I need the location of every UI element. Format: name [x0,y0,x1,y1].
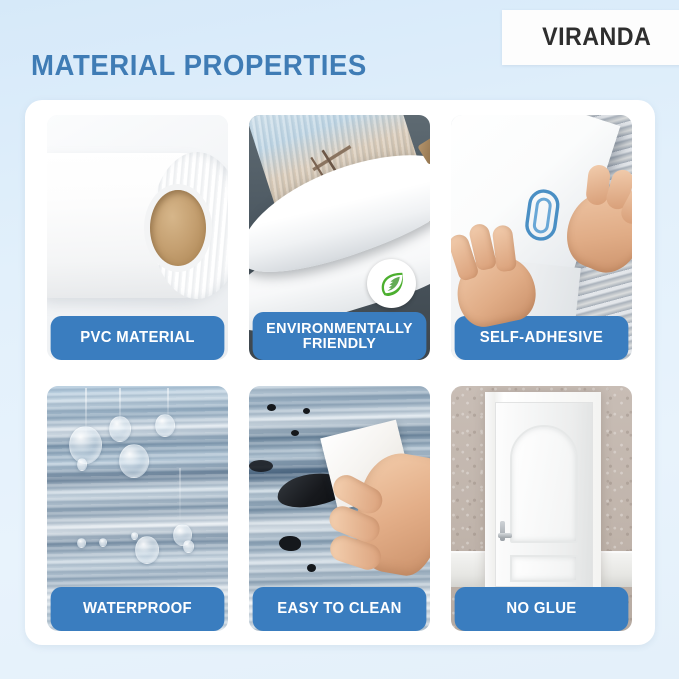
page-title: MATERIAL PROPERTIES [31,50,367,83]
feature-tile-environmentally-friendly[interactable]: ENVIRONMENTALLY FRIENDLY [249,115,430,360]
feature-label-easy-to-clean: EASY TO CLEAN [253,587,427,631]
feature-card: PVC MATERIAL ENVIRONMENTALLY FRIENDLY [25,100,655,645]
feature-label-waterproof: WATERPROOF [51,587,225,631]
feature-tile-easy-to-clean[interactable]: EASY TO CLEAN [249,386,430,631]
feature-label-pvc-material: PVC MATERIAL [51,316,225,360]
brand-badge: VIRANDA [502,10,679,65]
feature-tile-pvc-material[interactable]: PVC MATERIAL [47,115,228,360]
brand-name: VIRANDA [542,23,651,52]
feature-tile-no-glue[interactable]: NO GLUE [451,386,632,631]
door-frame [485,392,601,587]
leaf-icon [367,259,416,308]
feature-tile-self-adhesive[interactable]: SELF-ADHESIVE [451,115,632,360]
feature-grid: PVC MATERIAL ENVIRONMENTALLY FRIENDLY [47,115,633,631]
feature-tile-waterproof[interactable]: WATERPROOF [47,386,228,631]
feature-label-environmentally-friendly: ENVIRONMENTALLY FRIENDLY [253,312,427,360]
door [495,402,593,587]
feature-label-no-glue: NO GLUE [455,587,629,631]
